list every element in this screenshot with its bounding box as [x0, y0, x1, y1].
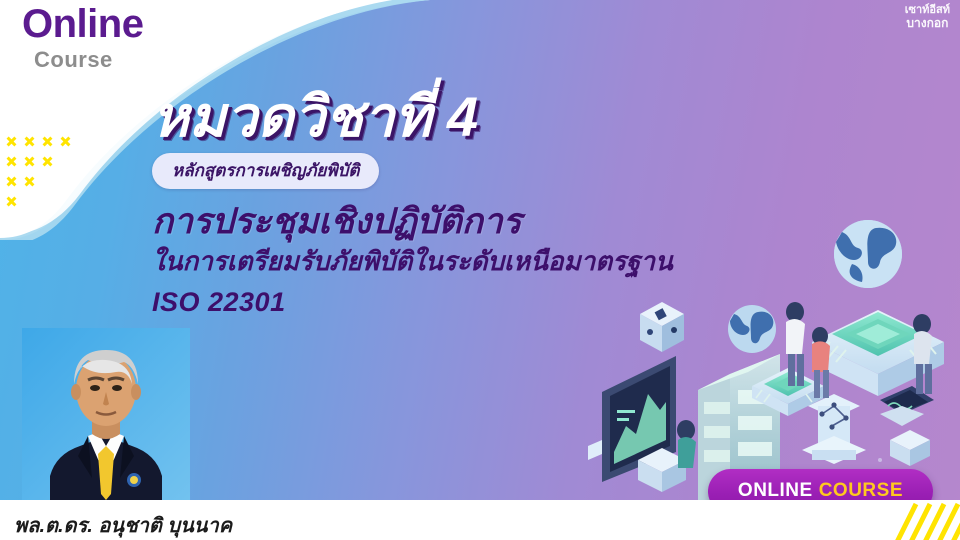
subtitle-line-2: ในการเตรียมรับภัยพิบัติในระดับเหนือมาตรฐ…	[152, 247, 712, 277]
x-mark-icon	[6, 196, 16, 206]
x-mark-icon	[6, 136, 16, 146]
microchip-small-icon	[752, 368, 824, 416]
speaker-portrait	[22, 328, 190, 500]
laptop-icon	[880, 386, 934, 426]
x-marks-row	[6, 176, 86, 196]
x-mark-icon	[60, 136, 70, 146]
microchip-large-icon	[812, 254, 944, 396]
x-marks-decoration	[6, 136, 86, 216]
x-mark-icon	[6, 176, 16, 186]
x-mark-icon	[24, 176, 34, 186]
podium-icon	[802, 394, 866, 464]
standard-code-text: ISO 22301	[152, 287, 712, 318]
headline-block: หมวดวิชาที่ 4 หลักสูตรการเผชิญภัยพิบัติ …	[152, 88, 712, 318]
x-marks-row	[6, 196, 86, 216]
speaker-name: พล.ต.ดร. อนุชาติ บุนนาค	[14, 509, 232, 540]
person-icon	[812, 327, 830, 398]
box-icon	[638, 448, 686, 492]
university-logo-line1: เซาท์อีสท์	[905, 5, 950, 16]
globe-large-icon	[834, 220, 902, 288]
course-category-label: หลักสูตรการเผชิญภัยพิบัติ	[172, 161, 359, 180]
brand-wordmark: Online Course	[22, 4, 143, 71]
monitor-chart-icon	[588, 356, 676, 482]
person-icon	[677, 420, 696, 468]
university-logo-line2: บางกอก	[905, 17, 950, 29]
subtitle-line-1: การประชุมเชิงปฏิบัติการ	[152, 203, 712, 242]
globe-small-icon	[728, 305, 776, 353]
x-marks-row	[6, 136, 86, 156]
course-category-pill: หลักสูตรการเผชิญภัยพิบัติ	[152, 153, 379, 189]
person-icon	[786, 302, 805, 386]
bottom-bar: พล.ต.ดร. อนุชาติ บุนนาค	[0, 500, 960, 540]
brand-online-text: Online	[22, 4, 143, 44]
diagonal-stripes-decoration	[890, 500, 960, 540]
x-mark-icon	[24, 136, 34, 146]
x-mark-icon	[24, 156, 34, 166]
course-banner: Online Course เซาท์อีสท์ บางกอก หมวดวิชา…	[0, 0, 960, 540]
person-icon	[913, 314, 932, 394]
badge-online-text: ONLINE	[738, 480, 813, 501]
x-marks-row	[6, 156, 86, 176]
badge-course-text: COURSE	[819, 480, 903, 501]
x-mark-icon	[42, 156, 52, 166]
box-icon	[890, 430, 930, 466]
x-mark-icon	[6, 156, 16, 166]
x-mark-icon	[42, 136, 52, 146]
brand-course-text: Course	[34, 49, 143, 71]
page-title: หมวดวิชาที่ 4	[152, 88, 712, 147]
university-logo: เซาท์อีสท์ บางกอก	[905, 5, 950, 29]
